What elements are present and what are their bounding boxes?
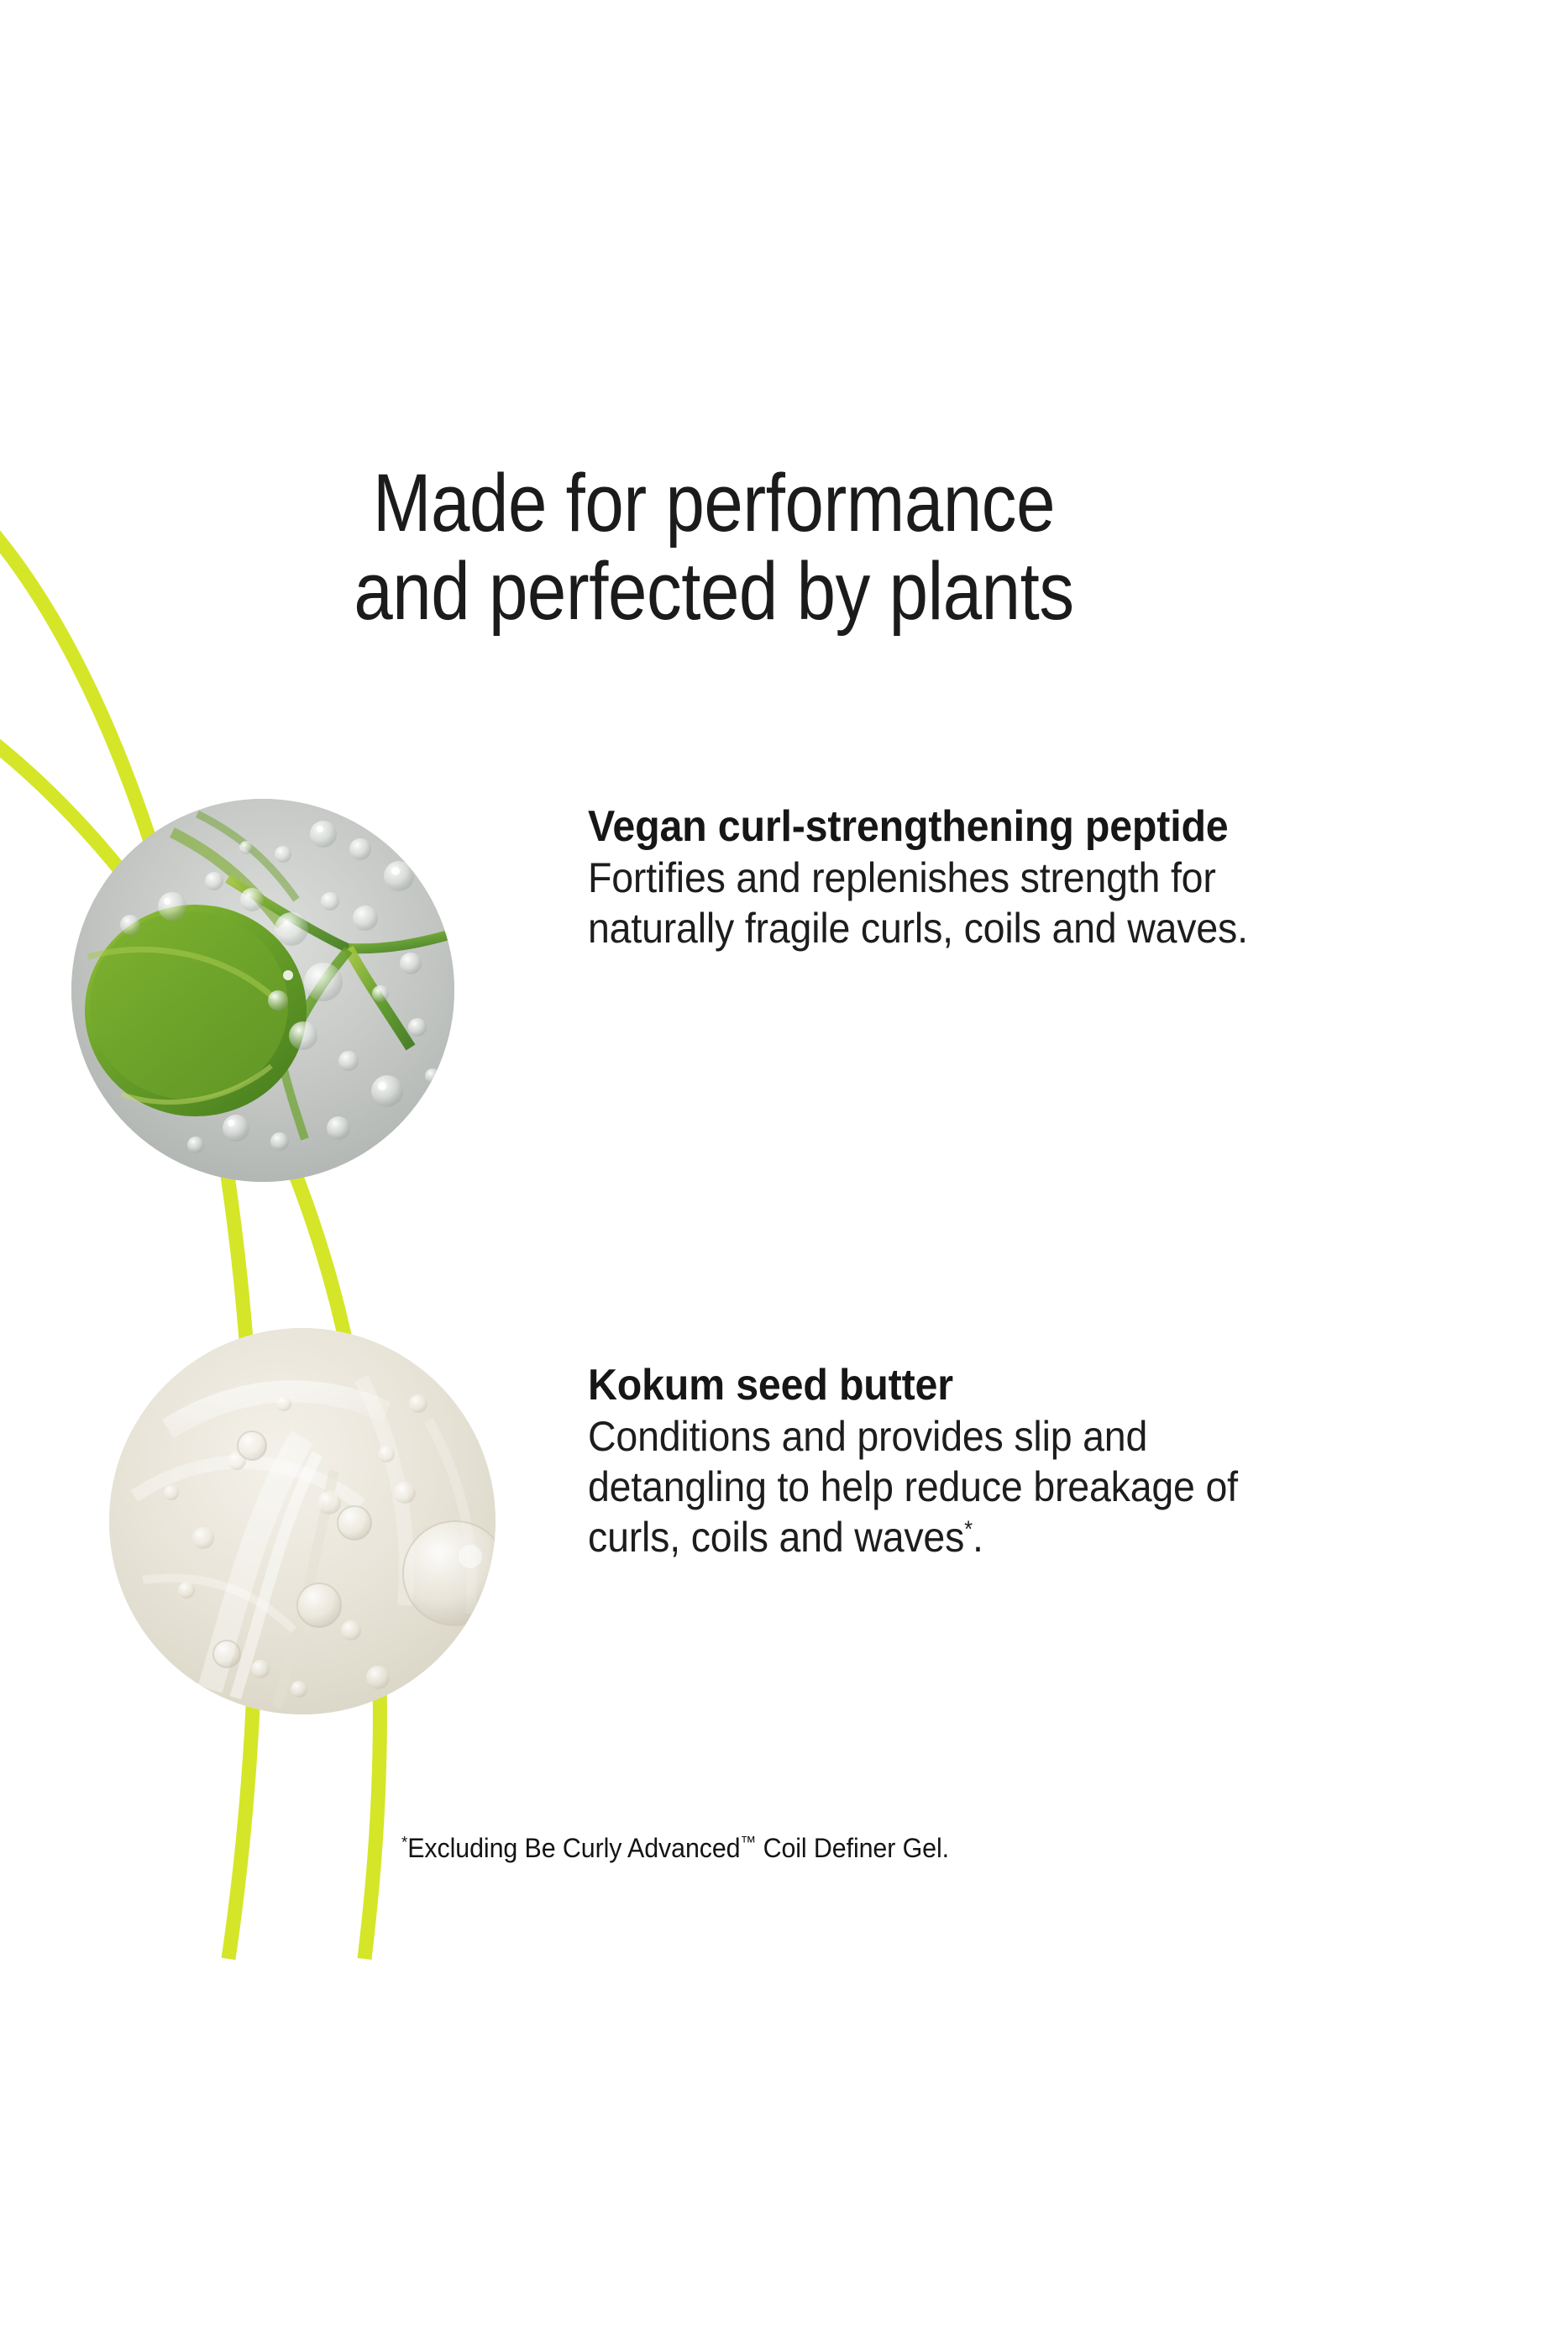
ribbon-path-left xyxy=(0,504,256,1959)
ingredient-image-peptide xyxy=(71,799,454,1182)
ingredient-block-peptide: Vegan curl-strengthening peptide Fortifi… xyxy=(588,802,1344,953)
headline: Made for performance and perfected by pl… xyxy=(0,459,1428,636)
footnote-text-before: Excluding Be Curly Advanced xyxy=(407,1833,740,1863)
ingredient-body-kokum-period: . xyxy=(973,1514,983,1561)
ingredient-title-kokum: Kokum seed butter xyxy=(588,1361,1291,1410)
green-plant-in-water-icon xyxy=(71,799,454,1182)
ingredient-body-kokum-text: Conditions and provides slip and detangl… xyxy=(588,1413,1238,1561)
ingredient-title-peptide: Vegan curl-strengthening peptide xyxy=(588,802,1291,851)
headline-line-2: and perfected by plants xyxy=(100,548,1328,636)
ingredient-body-kokum: Conditions and provides slip and detangl… xyxy=(588,1411,1291,1562)
headline-line-1: Made for performance xyxy=(100,459,1328,548)
footnote: *Excluding Be Curly Advanced™ Coil Defin… xyxy=(401,1833,949,1864)
ingredient-body-peptide: Fortifies and replenishes strength for n… xyxy=(588,853,1291,953)
footnote-marker-inline: * xyxy=(964,1516,973,1542)
footnote-asterisk: * xyxy=(401,1833,407,1851)
footnote-text-after: Coil Definer Gel. xyxy=(756,1833,949,1863)
marketing-panel: Made for performance and perfected by pl… xyxy=(0,0,1568,2352)
cream-butter-texture-icon xyxy=(109,1328,496,1714)
trademark-icon: ™ xyxy=(740,1833,756,1851)
ingredient-image-kokum xyxy=(109,1328,496,1714)
ingredient-block-kokum: Kokum seed butter Conditions and provide… xyxy=(588,1361,1344,1562)
